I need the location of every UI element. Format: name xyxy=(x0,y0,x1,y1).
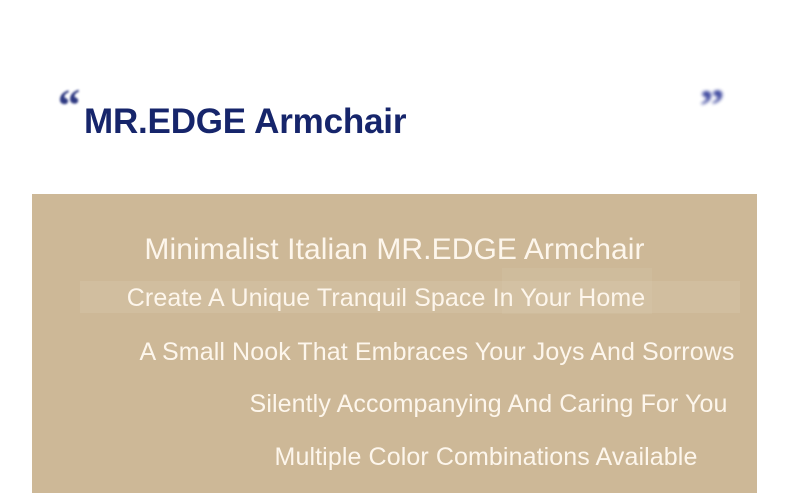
feature-line-2: A Small Nook That Embraces Your Joys And… xyxy=(117,336,757,368)
product-header: “ ” MR.EDGE Armchair xyxy=(0,0,790,194)
feature-line-4: Multiple Color Combinations Available xyxy=(216,441,756,473)
feature-line-1: Create A Unique Tranquil Space In Your H… xyxy=(81,282,691,314)
panel-heading: Minimalist Italian MR.EDGE Armchair xyxy=(32,230,757,270)
feature-line-3: Silently Accompanying And Caring For You xyxy=(220,388,757,420)
page-title: MR.EDGE Armchair xyxy=(84,100,406,144)
feature-panel: Minimalist Italian MR.EDGE Armchair Crea… xyxy=(32,194,757,493)
quote-close-icon: ” xyxy=(699,86,747,123)
